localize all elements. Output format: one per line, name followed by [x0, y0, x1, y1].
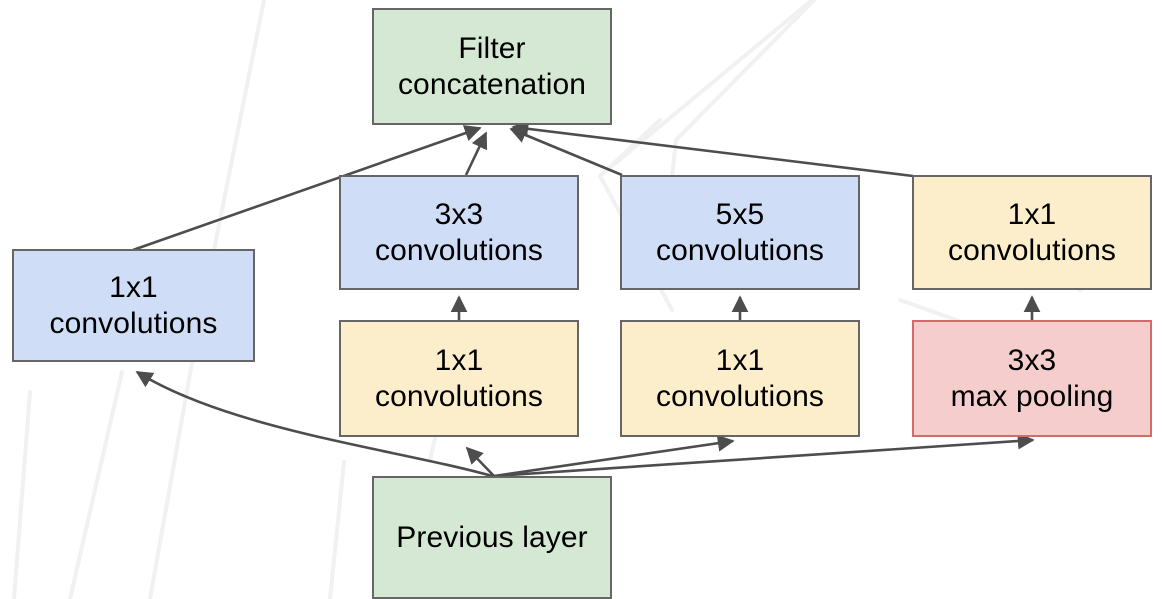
node-conv-1x1-left[interactable]: 1x1 convolutions: [12, 249, 255, 362]
node-max-pool-3x3[interactable]: 3x3 max pooling: [912, 320, 1152, 437]
edge-prev-to-1x1-mid-right: [494, 441, 733, 476]
edge-3x3-to-concat: [466, 133, 486, 175]
node-conv-3x3[interactable]: 3x3 convolutions: [339, 175, 579, 290]
node-conv-1x1-mid-left[interactable]: 1x1 convolutions: [339, 320, 579, 437]
node-previous-layer[interactable]: Previous layer: [372, 476, 612, 599]
edge-1x1-right-to-concat: [513, 127, 913, 176]
node-conv-5x5[interactable]: 5x5 convolutions: [620, 175, 860, 290]
node-conv-1x1-mid-right[interactable]: 1x1 convolutions: [620, 320, 860, 437]
diagram-canvas: Filter concatenation 1x1 convolutions 3x…: [0, 0, 1163, 599]
node-filter-concatenation[interactable]: Filter concatenation: [372, 8, 612, 125]
edge-5x5-to-concat: [511, 129, 622, 175]
edges-group: [133, 127, 1033, 476]
edge-prev-to-1x1-mid-left: [467, 448, 494, 476]
node-conv-1x1-right-top[interactable]: 1x1 convolutions: [912, 175, 1152, 290]
edge-prev-to-max-pool: [494, 440, 1033, 476]
